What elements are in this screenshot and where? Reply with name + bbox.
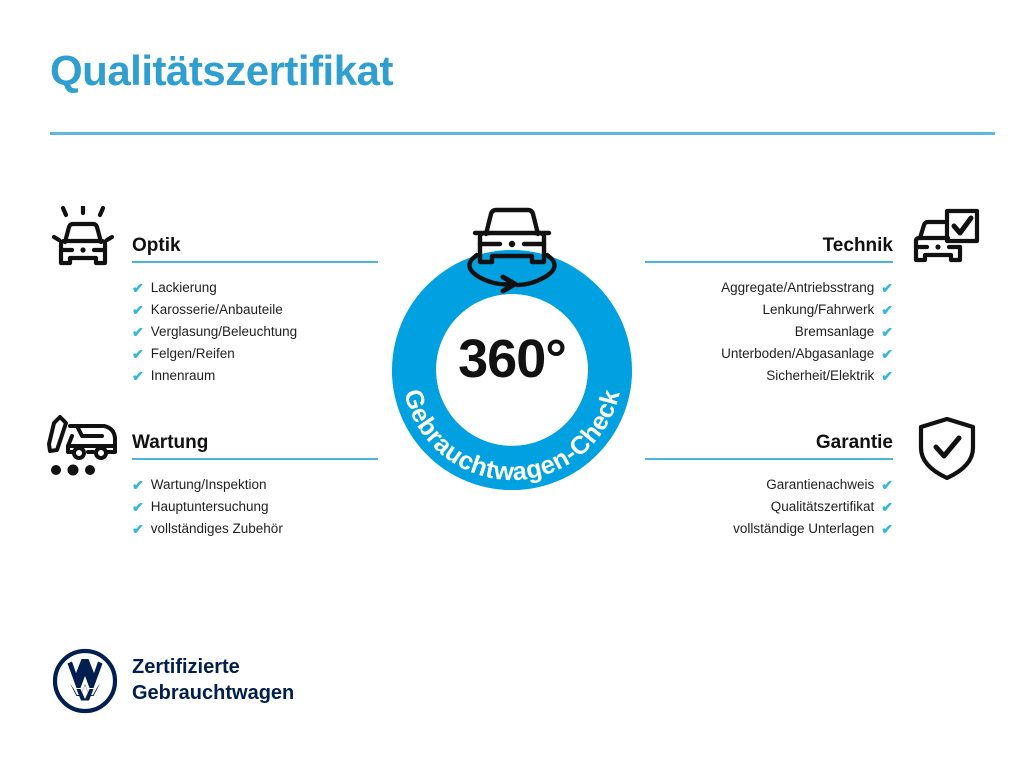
section-heading-wartung: Wartung (132, 433, 378, 458)
shield-check-icon (910, 412, 984, 486)
list-item-label: Felgen/Reifen (151, 343, 235, 365)
section-technik: Technik ✔Aggregate/Antriebsstrang ✔Lenku… (645, 236, 893, 387)
list-item-label: Unterboden/Abgasanlage (721, 343, 874, 365)
list-item-label: Garantienachweis (766, 474, 874, 496)
list-item-label: Wartung/Inspektion (151, 474, 267, 496)
list-item-label: Lackierung (151, 277, 217, 299)
check-icon: ✔ (881, 500, 893, 514)
list-item: ✔Garantienachweis (645, 474, 893, 496)
list-item-label: Sicherheit/Elektrik (766, 365, 874, 387)
list-item-label: Verglasung/Beleuchtung (151, 321, 297, 343)
check-icon: ✔ (881, 325, 893, 339)
list-item: ✔Felgen/Reifen (132, 343, 378, 365)
check-icon: ✔ (132, 303, 144, 317)
car-shine-icon (46, 206, 120, 280)
check-icon: ✔ (132, 522, 144, 536)
list-item-label: Karosserie/Anbauteile (151, 299, 283, 321)
section-garantie: Garantie ✔Garantienachweis ✔Qualitätszer… (645, 433, 893, 540)
title-divider (50, 132, 995, 135)
checklist-optik: ✔Lackierung ✔Karosserie/Anbauteile ✔Verg… (132, 263, 378, 387)
list-item-label: Qualitätszertifikat (771, 496, 875, 518)
list-item: ✔vollständige Unterlagen (645, 518, 893, 540)
footer-logo-text: Zertifizierte Gebrauchtwagen (132, 655, 294, 706)
list-item: ✔Sicherheit/Elektrik (645, 365, 893, 387)
list-item: ✔Karosserie/Anbauteile (132, 299, 378, 321)
check-icon: ✔ (132, 325, 144, 339)
footer-logo-line1: Zertifizierte (132, 655, 294, 681)
page-title: Qualitätszertifikat (50, 50, 393, 92)
list-item: ✔Lackierung (132, 277, 378, 299)
list-item-label: Innenraum (151, 365, 216, 387)
section-heading-garantie: Garantie (645, 433, 893, 458)
list-item-label: vollständiges Zubehör (151, 518, 283, 540)
footer-logo-line2: Gebrauchtwagen (132, 681, 294, 707)
check-icon: ✔ (132, 281, 144, 295)
list-item-label: vollständige Unterlagen (733, 518, 874, 540)
footer-logo: Zertifizierte Gebrauchtwagen (52, 648, 294, 714)
section-optik: Optik ✔Lackierung ✔Karosserie/Anbauteile… (132, 236, 378, 387)
list-item: ✔Bremsanlage (645, 321, 893, 343)
check-icon: ✔ (881, 369, 893, 383)
list-item: ✔Verglasung/Beleuchtung (132, 321, 378, 343)
car-checkbox-icon (908, 206, 982, 280)
list-item: ✔Innenraum (132, 365, 378, 387)
list-item-label: Aggregate/Antriebsstrang (721, 277, 874, 299)
check-icon: ✔ (132, 478, 144, 492)
checklist-wartung: ✔Wartung/Inspektion ✔Hauptuntersuchung ✔… (132, 460, 378, 540)
checklist-technik: ✔Aggregate/Antriebsstrang ✔Lenkung/Fahrw… (645, 263, 893, 387)
section-heading-optik: Optik (132, 236, 378, 261)
check-icon: ✔ (132, 347, 144, 361)
pen-car-service-icon (46, 410, 120, 484)
check-icon: ✔ (132, 369, 144, 383)
list-item: ✔Aggregate/Antriebsstrang (645, 277, 893, 299)
check-icon: ✔ (881, 522, 893, 536)
section-heading-technik: Technik (645, 236, 893, 261)
check-icon: ✔ (881, 281, 893, 295)
check-icon: ✔ (881, 347, 893, 361)
certificate-page: Qualitätszertifikat Optik ✔Lackierung ✔K… (0, 0, 1024, 768)
badge-value: 360° (378, 332, 646, 386)
list-item: ✔Hauptuntersuchung (132, 496, 378, 518)
list-item: ✔Qualitätszertifikat (645, 496, 893, 518)
check-icon: ✔ (881, 478, 893, 492)
list-item: ✔vollständiges Zubehör (132, 518, 378, 540)
section-wartung: Wartung ✔Wartung/Inspektion ✔Hauptunters… (132, 433, 378, 540)
checklist-garantie: ✔Garantienachweis ✔Qualitätszertifikat ✔… (645, 460, 893, 540)
list-item-label: Hauptuntersuchung (151, 496, 269, 518)
list-item: ✔Wartung/Inspektion (132, 474, 378, 496)
vw-logo-icon (52, 648, 118, 714)
list-item: ✔Lenkung/Fahrwerk (645, 299, 893, 321)
check-icon: ✔ (881, 303, 893, 317)
list-item-label: Lenkung/Fahrwerk (762, 299, 874, 321)
car-rotation-icon (455, 192, 569, 296)
list-item: ✔Unterboden/Abgasanlage (645, 343, 893, 365)
badge-360-gebrauchtwagen-check: Gebrauchtwagen-Check 360° (378, 236, 646, 504)
check-icon: ✔ (132, 500, 144, 514)
list-item-label: Bremsanlage (795, 321, 875, 343)
